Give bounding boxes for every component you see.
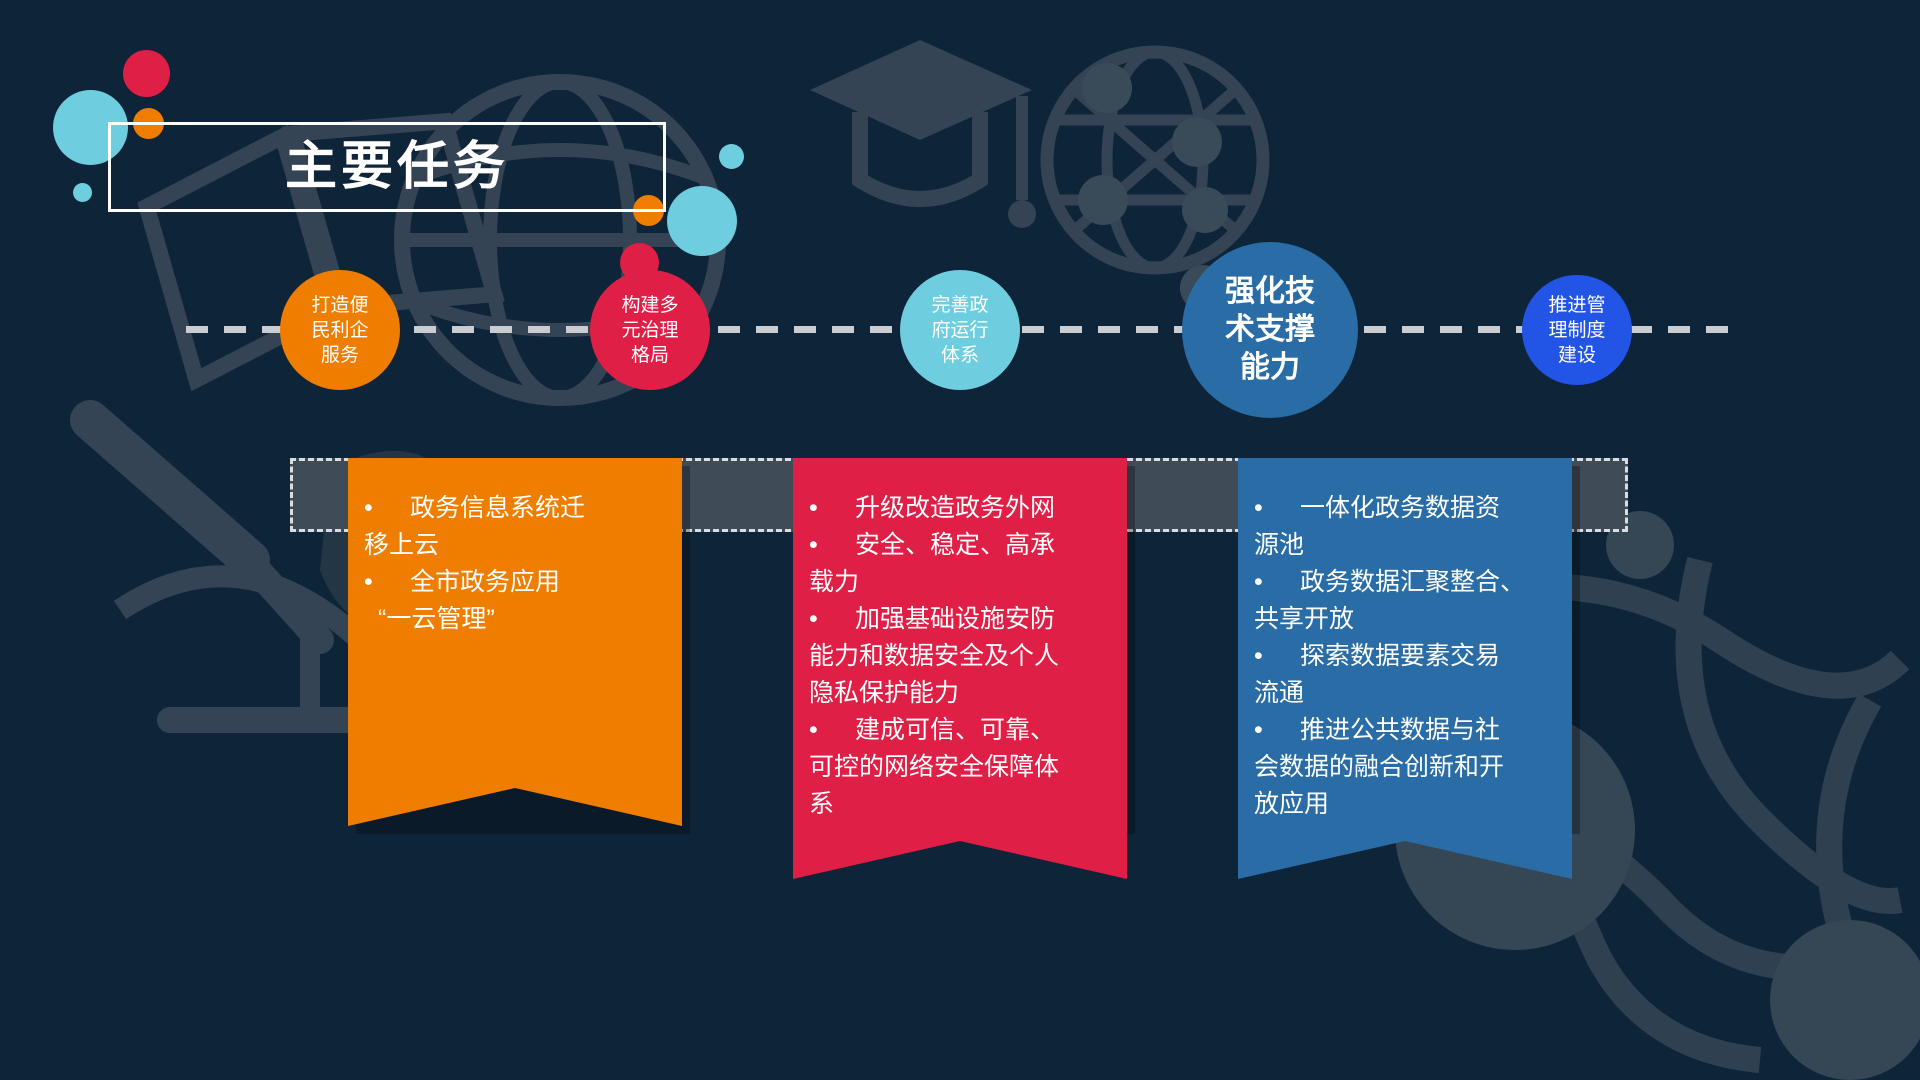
ribbon-line-text: “一云管理”	[378, 605, 495, 633]
ribbon-wrap-line: 会数据的融合创新和开	[1254, 749, 1556, 786]
ribbon-line-text: 载力	[809, 568, 859, 596]
timeline-node-label-line: 完善政	[906, 293, 1014, 318]
ribbon-line-text: 流通	[1254, 679, 1304, 707]
panel-blue[interactable]: •一体化政务数据资源池•政务数据汇聚整合、共享开放•探索数据要素交易流通•推进公…	[1238, 458, 1572, 879]
timeline-node-label-line: 民利企	[286, 318, 394, 343]
timeline-node-label-line: 强化技	[1188, 273, 1352, 311]
ribbon-wrap-line: 可控的网络安全保障体	[809, 749, 1111, 786]
ribbon-notch	[348, 774, 682, 826]
bullet-icon: •	[809, 601, 855, 638]
ribbon-line-text: 政务数据汇聚整合、	[1300, 568, 1525, 596]
ribbon-wrap-line: 隐私保护能力	[809, 675, 1111, 712]
timeline-node-3[interactable]: 完善政府运行体系	[900, 270, 1020, 390]
bullet-icon: •	[1254, 638, 1300, 675]
timeline-node-label-line: 格局	[596, 343, 704, 368]
ribbon-bullet-line: •探索数据要素交易	[1254, 638, 1556, 675]
ribbon-line-text: 探索数据要素交易	[1300, 642, 1500, 670]
bullet-icon: •	[1254, 712, 1300, 749]
panel-red[interactable]: •升级改造政务外网•安全、稳定、高承载力•加强基础设施安防能力和数据安全及个人隐…	[793, 458, 1127, 879]
timeline-node-label-line: 推进管	[1528, 293, 1626, 318]
ribbon-wrap-line: “一云管理”	[364, 601, 666, 638]
timeline-node-label: 构建多元治理格局	[590, 293, 710, 368]
ribbon-bullet-line: •一体化政务数据资	[1254, 490, 1556, 527]
dot-cyan-big2	[667, 186, 737, 256]
ribbon-line-text: 建成可信、可靠、	[855, 716, 1055, 744]
ribbon-bullet-line: •安全、稳定、高承	[809, 527, 1111, 564]
bullet-icon: •	[809, 712, 855, 749]
bullet-icon: •	[809, 490, 855, 527]
ribbon-wrap-line: 能力和数据安全及个人	[809, 638, 1111, 675]
ribbon-line-text: 隐私保护能力	[809, 679, 959, 707]
ribbon-bullet-line: •建成可信、可靠、	[809, 712, 1111, 749]
ribbon-line-text: 可控的网络安全保障体	[809, 753, 1059, 781]
bullet-icon: •	[364, 564, 410, 601]
ribbon-wrap-line: 流通	[1254, 675, 1556, 712]
ribbon-wrap-line: 放应用	[1254, 786, 1556, 823]
ribbon-body: •一体化政务数据资源池•政务数据汇聚整合、共享开放•探索数据要素交易流通•推进公…	[1238, 458, 1572, 827]
slide-canvas: 主要任务 打造便民利企服务构建多元治理格局完善政府运行体系强化技术支撑能力推进管…	[0, 0, 1920, 1080]
ribbon-bullet-line: •政务信息系统迁	[364, 490, 666, 527]
timeline-node-label: 完善政府运行体系	[900, 293, 1020, 368]
ribbon-bullet-line: •加强基础设施安防	[809, 601, 1111, 638]
timeline-node-1[interactable]: 打造便民利企服务	[280, 270, 400, 390]
timeline-node-label-line: 术支撑	[1188, 311, 1352, 349]
ribbon-wrap-line: 系	[809, 786, 1111, 823]
ribbon-line-text: 移上云	[364, 531, 439, 559]
ribbon-wrap-line: 源池	[1254, 527, 1556, 564]
bullet-icon: •	[809, 527, 855, 564]
timeline-node-label-line: 体系	[906, 343, 1014, 368]
ribbon-bullet-line: •升级改造政务外网	[809, 490, 1111, 527]
ribbon-body: •政务信息系统迁移上云•全市政务应用“一云管理”	[348, 458, 682, 774]
ribbon-line-text: 能力和数据安全及个人	[809, 642, 1059, 670]
timeline-node-label-line: 元治理	[596, 318, 704, 343]
timeline-node-label-line: 能力	[1188, 349, 1352, 387]
panel-orange[interactable]: •政务信息系统迁移上云•全市政务应用“一云管理”	[348, 458, 682, 826]
ribbon-bullet-line: •全市政务应用	[364, 564, 666, 601]
timeline-node-label: 打造便民利企服务	[280, 293, 400, 368]
ribbon-line-text: 安全、稳定、高承	[855, 531, 1055, 559]
timeline-node-label-line: 理制度	[1528, 318, 1626, 343]
dot-cyan-tiny	[73, 183, 92, 202]
bullet-icon: •	[364, 490, 410, 527]
timeline-node-label-line: 服务	[286, 343, 394, 368]
page-title: 主要任务	[285, 128, 665, 206]
ribbon-wrap-line: 移上云	[364, 527, 666, 564]
ribbon-bullet-line: •政务数据汇聚整合、	[1254, 564, 1556, 601]
ribbon-notch	[1238, 827, 1572, 879]
ribbon-line-text: 政务信息系统迁	[410, 494, 585, 522]
ribbon-wrap-line: 共享开放	[1254, 601, 1556, 638]
ribbon-line-text: 会数据的融合创新和开	[1254, 753, 1504, 781]
bullet-icon: •	[1254, 490, 1300, 527]
ribbon-line-text: 系	[809, 790, 834, 818]
graduation-cap-icon	[810, 40, 1036, 228]
ribbon-line-text: 一体化政务数据资	[1300, 494, 1500, 522]
ribbon-line-text: 放应用	[1254, 790, 1329, 818]
ribbon-line-text: 共享开放	[1254, 605, 1354, 633]
ribbon-wrap-line: 载力	[809, 564, 1111, 601]
timeline-node-2[interactable]: 构建多元治理格局	[590, 270, 710, 390]
timeline-node-label: 推进管理制度建设	[1522, 293, 1632, 368]
timeline-node-label: 强化技术支撑能力	[1182, 273, 1358, 387]
timeline-node-label-line: 构建多	[596, 293, 704, 318]
timeline-node-label-line: 府运行	[906, 318, 1014, 343]
timeline-node-label-line: 打造便	[286, 293, 394, 318]
ribbon-body: •升级改造政务外网•安全、稳定、高承载力•加强基础设施安防能力和数据安全及个人隐…	[793, 458, 1127, 827]
ribbon-line-text: 推进公共数据与社	[1300, 716, 1500, 744]
dot-cyan-mid	[719, 144, 744, 169]
timeline-node-label-line: 建设	[1528, 343, 1626, 368]
ribbon-bullet-line: •推进公共数据与社	[1254, 712, 1556, 749]
ribbon-notch	[793, 827, 1127, 879]
ribbon-line-text: 源池	[1254, 531, 1304, 559]
bullet-icon: •	[1254, 564, 1300, 601]
dot-crimson-top	[123, 50, 170, 97]
timeline-node-4[interactable]: 强化技术支撑能力	[1182, 242, 1358, 418]
ribbon-line-text: 升级改造政务外网	[855, 494, 1055, 522]
timeline-node-5[interactable]: 推进管理制度建设	[1522, 275, 1632, 385]
ribbon-line-text: 加强基础设施安防	[855, 605, 1055, 633]
ribbon-line-text: 全市政务应用	[410, 568, 560, 596]
